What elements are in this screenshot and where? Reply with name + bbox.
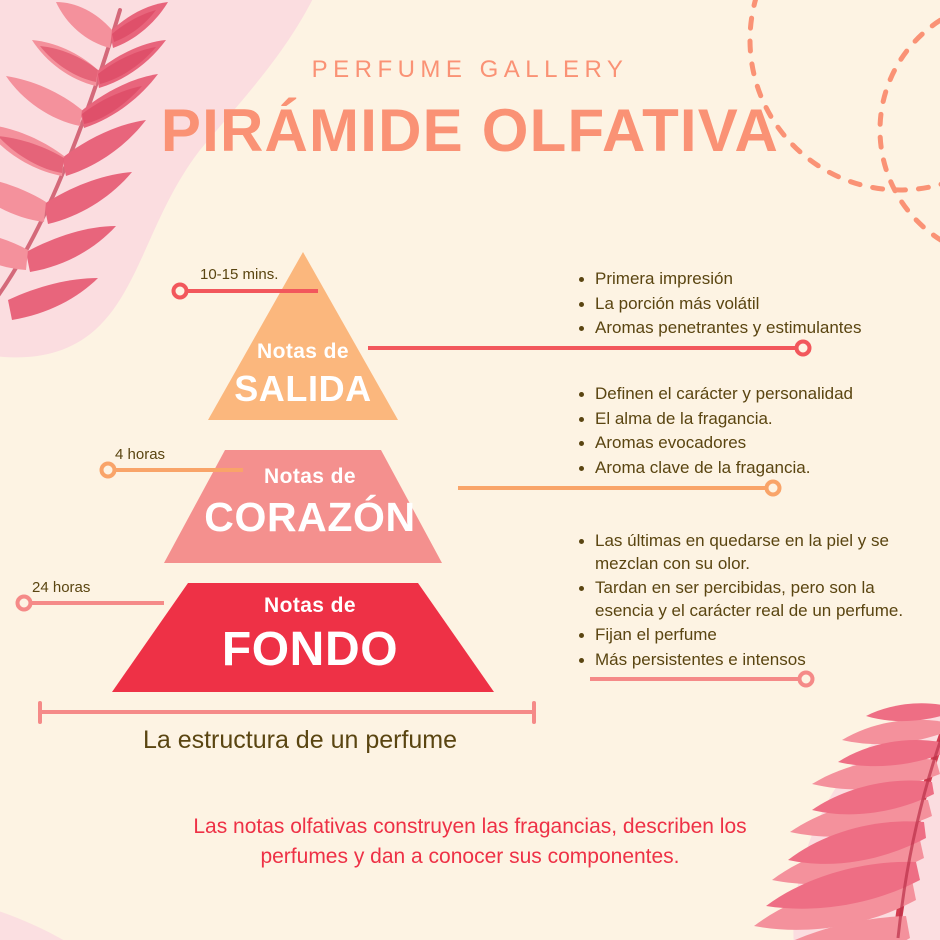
list-item: La porción más volátil <box>575 293 915 316</box>
time-label-salida: 10-15 mins. <box>200 266 278 283</box>
time-label-fondo: 24 horas <box>32 579 90 596</box>
tier-caption-salida: Notas de SALIDA <box>183 341 423 407</box>
time-connector-fondo <box>18 597 165 610</box>
tier-caption-fondo: Notas de FONDO <box>180 595 440 674</box>
list-item: Las últimas en quedarse en la piel y se … <box>575 530 925 575</box>
bullet-connector-fondo <box>590 673 813 686</box>
list-item: Aroma clave de la fragancia. <box>575 457 915 480</box>
list-item: Fijan el perfume <box>575 624 925 647</box>
tier-caption-corazon: Notas de CORAZÓN <box>190 466 430 538</box>
tier-sublabel-fondo: Notas de <box>180 595 440 616</box>
list-item: Primera impresión <box>575 268 915 291</box>
list-item: El alma de la fragancia. <box>575 408 915 431</box>
bullet-list-fondo: Las últimas en quedarse en la piel y se … <box>575 530 925 674</box>
list-item: Tardan en ser percibidas, pero son la es… <box>575 577 925 622</box>
time-label-corazon: 4 horas <box>115 446 165 463</box>
tier-mainlabel-corazon: CORAZÓN <box>190 497 430 538</box>
list-item: Aromas evocadores <box>575 432 915 455</box>
bullet-connector-corazon <box>458 482 780 495</box>
tier-mainlabel-fondo: FONDO <box>180 626 440 674</box>
tier-sublabel-corazon: Notas de <box>190 466 430 487</box>
structure-caption: La estructura de un perfume <box>40 726 560 755</box>
width-measurement-bracket <box>40 703 534 722</box>
list-item: Más persistentes e intensos <box>575 649 925 672</box>
infographic-canvas: PERFUME GALLERY PIRÁMIDE OLFATIVA <box>0 0 940 940</box>
tier-mainlabel-salida: SALIDA <box>183 371 423 407</box>
footer-note: Las notas olfativas construyen las fraga… <box>150 812 790 873</box>
bullet-list-salida: Primera impresiónLa porción más volátilA… <box>575 268 915 342</box>
tier-sublabel-salida: Notas de <box>183 341 423 362</box>
list-item: Definen el carácter y personalidad <box>575 383 915 406</box>
bullet-connector-salida <box>368 342 810 355</box>
bullet-list-corazon: Definen el carácter y personalidadEl alm… <box>575 383 915 481</box>
list-item: Aromas penetrantes y estimulantes <box>575 317 915 340</box>
